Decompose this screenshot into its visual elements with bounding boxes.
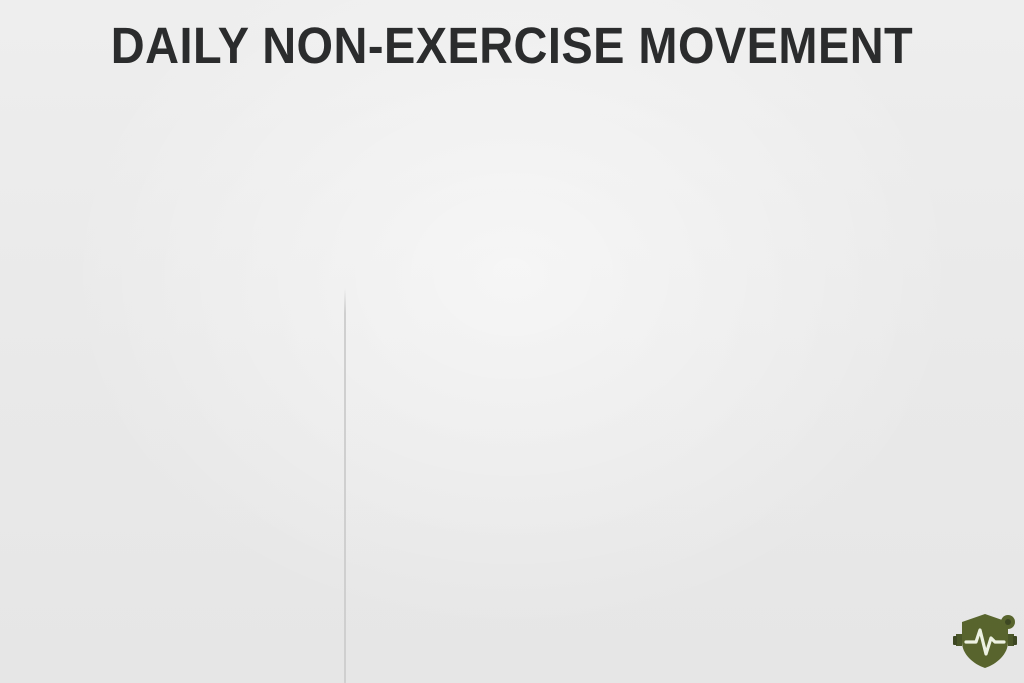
fitness-shield-logo — [952, 608, 1018, 674]
column-divider-1 — [344, 288, 346, 683]
page-title: DAILY NON-EXERCISE MOVEMENT — [41, 16, 983, 76]
infographic-poster: DAILY NON-EXERCISE MOVEMENT — [0, 0, 1024, 683]
